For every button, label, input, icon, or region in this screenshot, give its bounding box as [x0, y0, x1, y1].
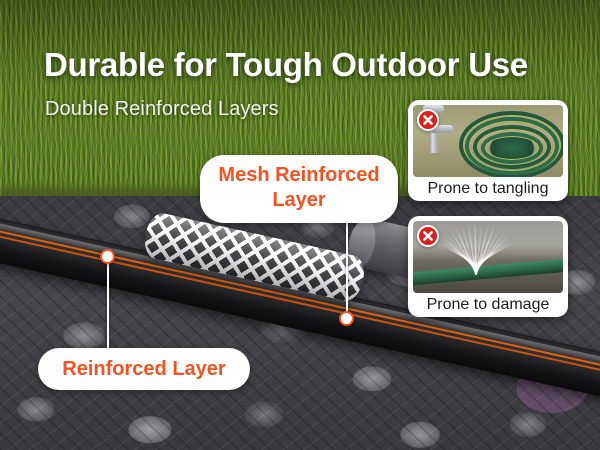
leaking-hose-photo — [413, 221, 563, 293]
leader-line-reinforced — [107, 262, 109, 352]
page-title: Durable for Tough Outdoor Use — [44, 46, 528, 84]
x-mark-icon — [417, 109, 439, 131]
green-hose — [413, 257, 563, 285]
callout-mesh-reinforced-layer: Mesh Reinforced Layer — [200, 155, 398, 223]
inset-card-prone-to-tangling: Prone to tangling — [408, 100, 568, 201]
leader-line-mesh — [346, 210, 348, 318]
callout-reinforced-layer: Reinforced Layer — [38, 348, 250, 390]
tangled-hose-photo — [413, 105, 563, 177]
card-caption: Prone to damage — [408, 293, 568, 317]
callout-dot-mesh — [339, 311, 354, 326]
x-mark-icon — [417, 225, 439, 247]
product-feature-banner: Durable for Tough Outdoor Use Double Rei… — [0, 0, 600, 450]
page-subtitle: Double Reinforced Layers — [45, 98, 279, 121]
inset-card-prone-to-damage: Prone to damage — [408, 216, 568, 317]
hose-coil — [481, 132, 543, 164]
card-caption: Prone to tangling — [408, 177, 568, 201]
callout-dot-reinforced — [100, 249, 115, 264]
